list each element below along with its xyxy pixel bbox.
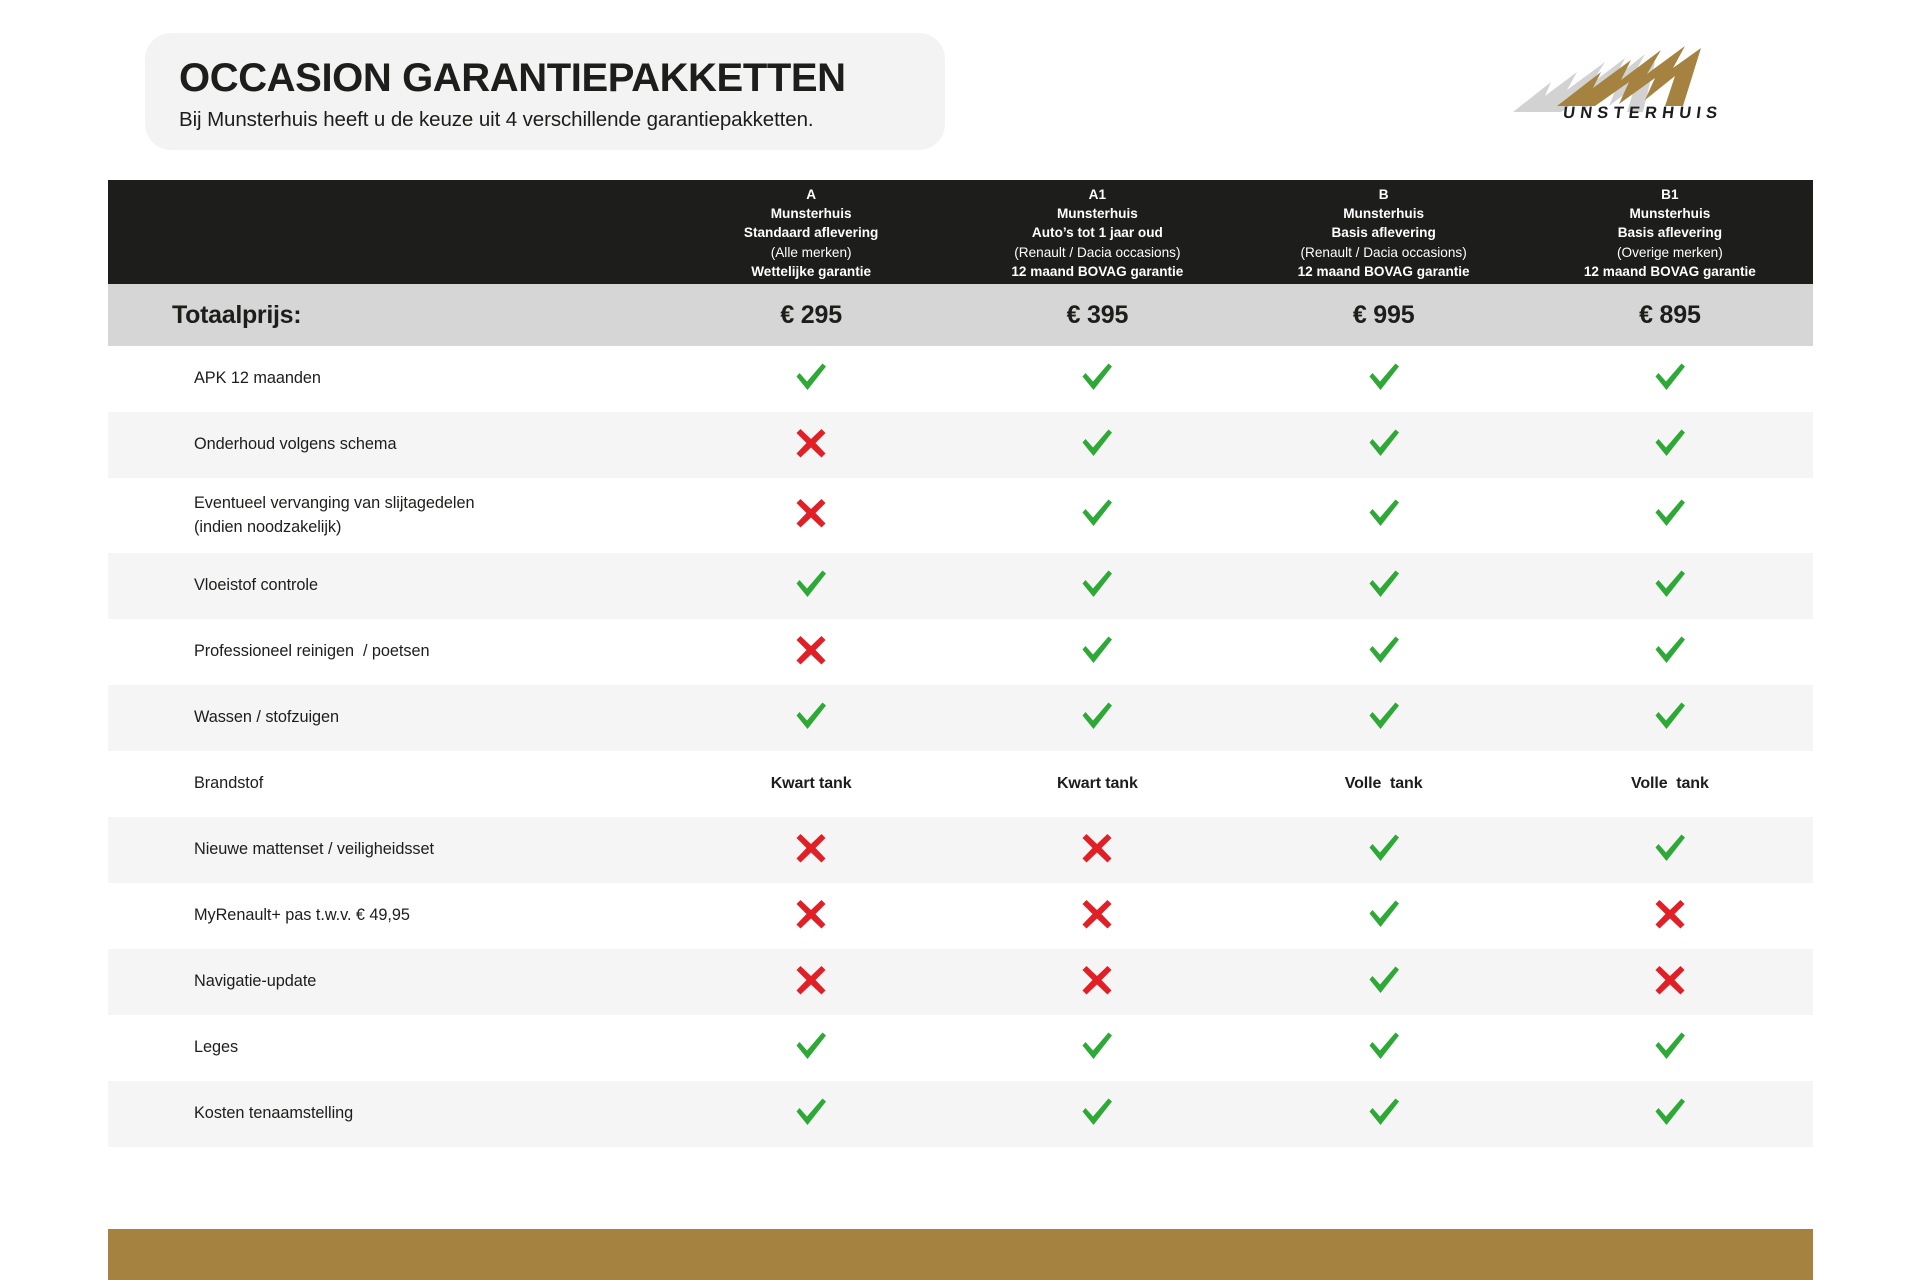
check-icon (1653, 569, 1687, 599)
feature-label: Professioneel reinigen / poetsen (108, 640, 668, 663)
cross-icon (1082, 965, 1112, 995)
page-title: OCCASION GARANTIEPAKKETTEN (179, 57, 911, 100)
cell-included (1241, 635, 1527, 670)
cell-included (1241, 498, 1527, 533)
cell-value-text: Volle tank (1631, 775, 1709, 792)
cell-included (1241, 362, 1527, 397)
check-mark (1080, 635, 1114, 665)
check-mark (1653, 569, 1687, 599)
check-icon (1080, 498, 1114, 528)
logo-wordmark: UNSTERHUIS (1562, 104, 1724, 123)
column-brand: Munsterhuis (1241, 204, 1527, 223)
column-brand: Munsterhuis (668, 204, 954, 223)
cross-icon (796, 635, 826, 665)
check-mark (1653, 428, 1687, 458)
check-mark (1653, 1097, 1687, 1127)
cell-included (954, 498, 1240, 533)
cell-included (1241, 965, 1527, 1000)
cell-value-text: Kwart tank (1057, 775, 1138, 792)
check-mark (1080, 498, 1114, 528)
table-row: Leges (108, 1015, 1813, 1081)
cell-included (954, 1097, 1240, 1132)
cross-icon (796, 833, 826, 863)
cross-icon (796, 899, 826, 929)
check-icon (1367, 1031, 1401, 1061)
check-icon (794, 701, 828, 731)
check-mark (794, 1097, 828, 1127)
feature-label: Navigatie-update (108, 970, 668, 993)
table-header-row: A Munsterhuis Standaard aflevering (Alle… (108, 180, 1813, 284)
table-row: Nieuwe mattenset / veiligheidsset (108, 817, 1813, 883)
price-a: € 295 (668, 301, 954, 330)
check-mark (1653, 362, 1687, 392)
price-a1: € 395 (954, 301, 1240, 330)
column-header-a1: A1 Munsterhuis Auto’s tot 1 jaar oud (Re… (954, 183, 1240, 281)
column-header-b1: B1 Munsterhuis Basis aflevering (Overige… (1527, 183, 1813, 281)
table-row: MyRenault+ pas t.w.v. € 49,95 (108, 883, 1813, 949)
check-icon (1367, 362, 1401, 392)
check-mark (794, 569, 828, 599)
check-mark (1367, 833, 1401, 863)
cross-mark (1082, 833, 1112, 863)
column-line4: (Alle merken) (668, 243, 954, 262)
cell-text-value: Volle tank (1527, 775, 1813, 793)
cell-included (668, 701, 954, 736)
feature-rows: APK 12 maandenOnderhoud volgens schemaEv… (108, 346, 1813, 1147)
check-mark (1080, 1031, 1114, 1061)
check-icon (1653, 635, 1687, 665)
cross-icon (796, 498, 826, 528)
cell-included (668, 569, 954, 604)
check-mark (1367, 428, 1401, 458)
cell-included (1527, 833, 1813, 868)
cross-mark (796, 899, 826, 929)
cell-included (668, 1031, 954, 1066)
check-icon (1367, 1097, 1401, 1127)
column-code: B (1241, 185, 1527, 204)
check-icon (794, 362, 828, 392)
cell-included (954, 701, 1240, 736)
table-row: APK 12 maanden (108, 346, 1813, 412)
header-card: OCCASION GARANTIEPAKKETTEN Bij Munsterhu… (145, 33, 945, 150)
check-mark (1080, 569, 1114, 599)
check-icon (1367, 965, 1401, 995)
feature-label: Eventueel vervanging van slijtagedelen(i… (108, 492, 668, 538)
feature-label: Brandstof (108, 772, 668, 795)
cross-mark (796, 965, 826, 995)
check-icon (1653, 701, 1687, 731)
cell-text-value: Kwart tank (668, 775, 954, 793)
check-mark (1653, 701, 1687, 731)
cross-icon (796, 428, 826, 458)
cell-included (954, 362, 1240, 397)
column-line4: (Renault / Dacia occasions) (954, 243, 1240, 262)
cell-included (668, 362, 954, 397)
cross-mark (796, 498, 826, 528)
column-line5: 12 maand BOVAG garantie (954, 262, 1240, 281)
table-row: BrandstofKwart tankKwart tankVolle tankV… (108, 751, 1813, 817)
cross-mark (1082, 899, 1112, 929)
check-icon (1367, 498, 1401, 528)
cross-icon (1082, 833, 1112, 863)
check-icon (1367, 635, 1401, 665)
check-icon (1080, 635, 1114, 665)
footer-accent-bar (108, 1229, 1813, 1280)
table-row: Onderhoud volgens schema (108, 412, 1813, 478)
cell-included (1241, 1031, 1527, 1066)
cell-included (1527, 1031, 1813, 1066)
check-mark (1367, 899, 1401, 929)
feature-label: Nieuwe mattenset / veiligheidsset (108, 838, 668, 861)
cell-excluded (668, 965, 954, 1000)
column-line3: Basis aflevering (1241, 223, 1527, 242)
cell-value-text: Volle tank (1345, 775, 1423, 792)
cross-icon (1655, 965, 1685, 995)
cell-included (954, 428, 1240, 463)
check-mark (1653, 1031, 1687, 1061)
check-mark (1653, 498, 1687, 528)
column-line4: (Overige merken) (1527, 243, 1813, 262)
check-mark (1367, 569, 1401, 599)
cell-text-value: Volle tank (1241, 775, 1527, 793)
feature-label: Leges (108, 1036, 668, 1059)
cell-included (1241, 701, 1527, 736)
cell-excluded (668, 635, 954, 670)
cell-excluded (954, 833, 1240, 868)
cell-included (1241, 569, 1527, 604)
cross-mark (1655, 965, 1685, 995)
check-mark (1367, 701, 1401, 731)
cell-text-value: Kwart tank (954, 775, 1240, 793)
price-b1: € 895 (1527, 301, 1813, 330)
comparison-table: A Munsterhuis Standaard aflevering (Alle… (108, 180, 1813, 1147)
feature-label: MyRenault+ pas t.w.v. € 49,95 (108, 904, 668, 927)
cross-mark (1082, 965, 1112, 995)
check-mark (1080, 362, 1114, 392)
feature-label: Onderhoud volgens schema (108, 433, 668, 456)
cell-included (1527, 635, 1813, 670)
cell-included (1527, 498, 1813, 533)
column-line5: 12 maand BOVAG garantie (1527, 262, 1813, 281)
check-icon (1653, 833, 1687, 863)
cross-mark (796, 635, 826, 665)
cross-icon (1082, 899, 1112, 929)
cell-excluded (954, 965, 1240, 1000)
column-brand: Munsterhuis (1527, 204, 1813, 223)
column-header-b: B Munsterhuis Basis aflevering (Renault … (1241, 183, 1527, 281)
column-code: B1 (1527, 185, 1813, 204)
check-icon (1367, 899, 1401, 929)
cell-included (668, 1097, 954, 1132)
cell-excluded (668, 498, 954, 533)
check-mark (1080, 1097, 1114, 1127)
check-icon (1080, 428, 1114, 458)
check-icon (1367, 428, 1401, 458)
column-brand: Munsterhuis (954, 204, 1240, 223)
check-icon (794, 569, 828, 599)
cell-included (1527, 569, 1813, 604)
cell-excluded (668, 833, 954, 868)
check-mark (1080, 428, 1114, 458)
cell-included (1241, 1097, 1527, 1132)
feature-label: Kosten tenaamstelling (108, 1102, 668, 1125)
check-icon (1080, 701, 1114, 731)
check-mark (1653, 833, 1687, 863)
column-line4: (Renault / Dacia occasions) (1241, 243, 1527, 262)
cross-icon (796, 965, 826, 995)
cell-excluded (668, 899, 954, 934)
total-price-row: Totaalprijs: € 295 € 395 € 995 € 895 (108, 284, 1813, 346)
column-line3: Basis aflevering (1527, 223, 1813, 242)
table-row: Vloeistof controle (108, 553, 1813, 619)
column-line3: Auto’s tot 1 jaar oud (954, 223, 1240, 242)
cross-mark (1655, 899, 1685, 929)
cell-included (1241, 428, 1527, 463)
cell-included (1527, 428, 1813, 463)
cell-value-text: Kwart tank (771, 775, 852, 792)
check-icon (1080, 1097, 1114, 1127)
check-mark (1367, 635, 1401, 665)
price-b: € 995 (1241, 301, 1527, 330)
check-icon (1367, 701, 1401, 731)
cell-included (1241, 899, 1527, 934)
page-subtitle: Bij Munsterhuis heeft u de keuze uit 4 v… (179, 108, 911, 132)
munsterhuis-logo: UNSTERHUIS (1505, 28, 1720, 128)
cell-excluded (954, 899, 1240, 934)
cell-included (954, 569, 1240, 604)
check-icon (1080, 569, 1114, 599)
cross-mark (796, 833, 826, 863)
feature-label: Wassen / stofzuigen (108, 706, 668, 729)
column-code: A1 (954, 185, 1240, 204)
check-mark (794, 701, 828, 731)
check-icon (1653, 498, 1687, 528)
cell-included (1527, 1097, 1813, 1132)
column-header-a: A Munsterhuis Standaard aflevering (Alle… (668, 183, 954, 281)
table-row: Eventueel vervanging van slijtagedelen(i… (108, 478, 1813, 553)
cell-excluded (1527, 899, 1813, 934)
table-row: Navigatie-update (108, 949, 1813, 1015)
check-mark (1367, 498, 1401, 528)
table-row: Kosten tenaamstelling (108, 1081, 1813, 1147)
cell-included (1241, 833, 1527, 868)
check-icon (794, 1031, 828, 1061)
cell-excluded (668, 428, 954, 463)
cell-excluded (1527, 965, 1813, 1000)
cross-mark (796, 428, 826, 458)
check-mark (1080, 701, 1114, 731)
check-icon (1653, 362, 1687, 392)
cell-included (1527, 362, 1813, 397)
check-mark (794, 1031, 828, 1061)
check-mark (1653, 635, 1687, 665)
column-code: A (668, 185, 954, 204)
check-mark (1367, 1097, 1401, 1127)
warranty-packages-page: OCCASION GARANTIEPAKKETTEN Bij Munsterhu… (0, 0, 1920, 1280)
check-mark (1367, 362, 1401, 392)
column-line5: 12 maand BOVAG garantie (1241, 262, 1527, 281)
check-mark (1367, 965, 1401, 995)
check-icon (1367, 833, 1401, 863)
check-mark (1367, 1031, 1401, 1061)
column-line5: Wettelijke garantie (668, 262, 954, 281)
check-icon (1653, 1031, 1687, 1061)
feature-label: APK 12 maanden (108, 367, 668, 390)
check-mark (794, 362, 828, 392)
check-icon (1653, 428, 1687, 458)
cell-included (954, 1031, 1240, 1066)
table-row: Wassen / stofzuigen (108, 685, 1813, 751)
column-line3: Standaard aflevering (668, 223, 954, 242)
check-icon (794, 1097, 828, 1127)
check-icon (1653, 1097, 1687, 1127)
check-icon (1080, 362, 1114, 392)
cell-included (954, 635, 1240, 670)
table-row: Professioneel reinigen / poetsen (108, 619, 1813, 685)
check-icon (1367, 569, 1401, 599)
check-icon (1080, 1031, 1114, 1061)
total-price-label: Totaalprijs: (108, 301, 668, 330)
cell-included (1527, 701, 1813, 736)
feature-label: Vloeistof controle (108, 574, 668, 597)
cross-icon (1655, 899, 1685, 929)
